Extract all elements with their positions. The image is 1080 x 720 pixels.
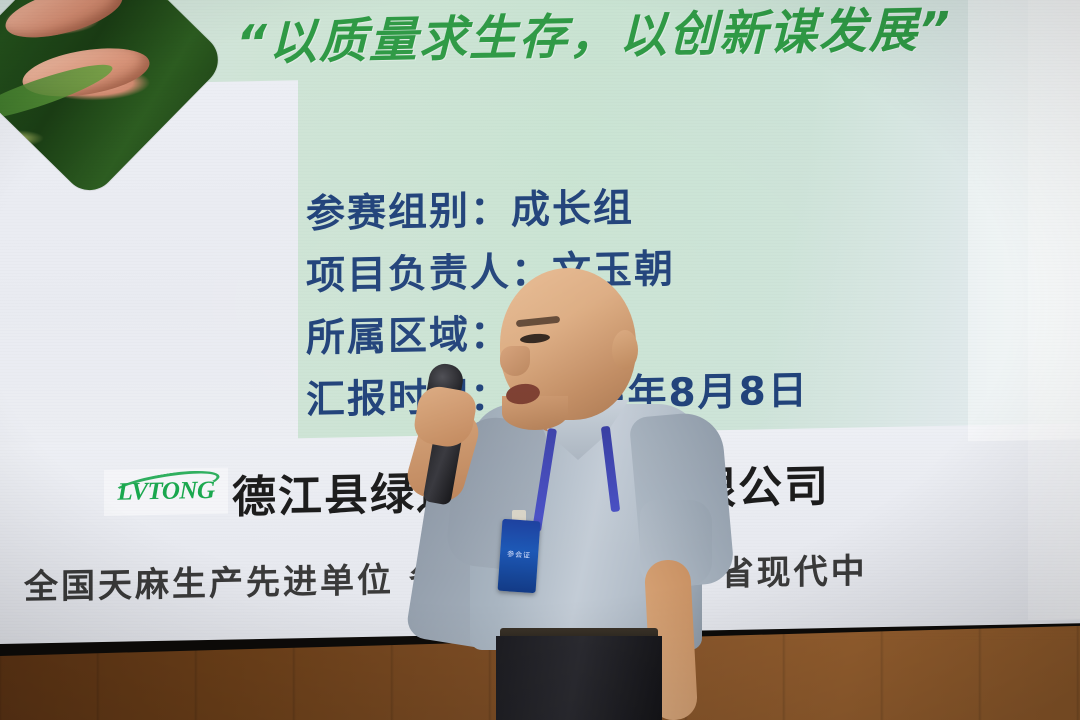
conference-badge: 参会证 [498, 519, 541, 593]
presentation-photo: “以质量求生存，以创新谋发展” 参赛组别：成长组 项目负责人：文玉朝 所属区域：… [0, 0, 1080, 720]
badge-label: 参会证 [502, 549, 537, 561]
speaker-trousers [496, 636, 662, 720]
speaker-nose [500, 346, 530, 376]
speaker-figure: 参会证 [0, 0, 1080, 720]
speaker-ear [612, 330, 638, 370]
